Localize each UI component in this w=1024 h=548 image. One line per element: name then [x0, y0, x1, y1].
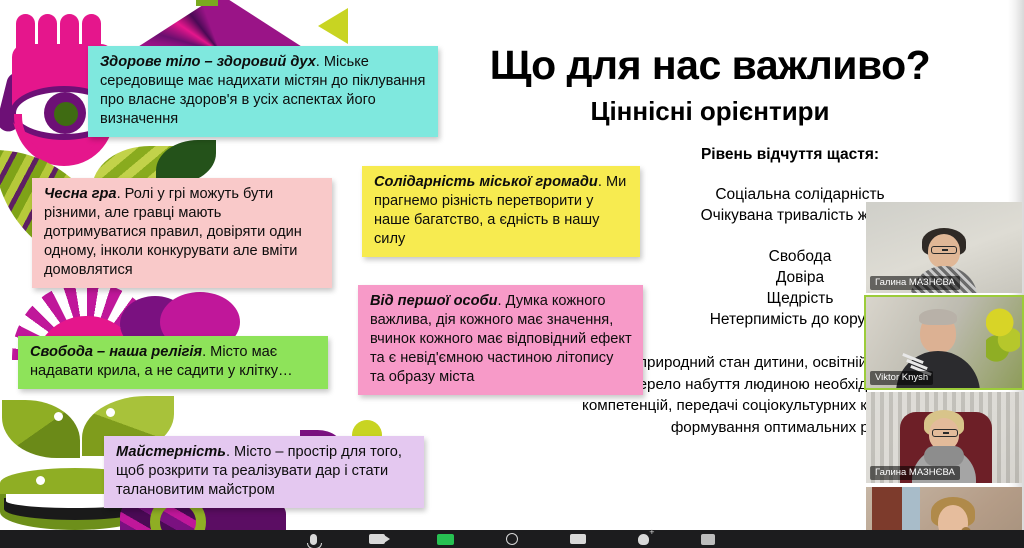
participant-name-label: Галина МАЗНЄВА: [870, 276, 960, 290]
plant-decor: [986, 305, 1020, 363]
toolbar-share-screen-button[interactable]: [437, 534, 454, 545]
value-card-first-person: Від першої особи. Думка кожного важлива,…: [358, 285, 643, 395]
reactions-icon: [506, 533, 518, 545]
value-card-mastery: Майстерність. Місто – простір для того, …: [104, 436, 424, 508]
mic-icon: [310, 534, 317, 545]
screen-sharing-meeting-view: Що для нас важливо? Ціннісні орієнтири Р…: [0, 0, 1024, 548]
add-participant-icon: [638, 534, 649, 545]
value-card-mastery-lead: Майстерність: [116, 444, 226, 460]
value-card-solidarity: Солідарність міської громади. Ми прагнем…: [362, 166, 640, 257]
value-card-solidarity-lead: Солідарність міської громади: [374, 174, 598, 190]
happiness-level-label: Рівень відчуття щастя:: [600, 146, 980, 164]
meeting-toolbar[interactable]: [0, 530, 1024, 548]
participant-name-text: Viktor Knysh: [875, 372, 928, 383]
camera-icon: [369, 534, 385, 544]
toolbar-camera-button[interactable]: [369, 534, 385, 544]
value-card-health-lead: Здорове тіло – здоровий дух: [100, 54, 316, 70]
participant-name-text: Галина МАЗНЄВА: [875, 277, 955, 288]
toolbar-microphone-button[interactable]: [310, 534, 317, 545]
value-card-fair-play: Чесна гра. Ролі у грі можуть бути різним…: [32, 178, 332, 288]
toolbar-more-options-button[interactable]: [701, 534, 715, 545]
more-options-icon: [701, 534, 715, 545]
yellow-chevron-icon: [318, 8, 348, 44]
green-square-accent: [196, 0, 218, 6]
toolbar-reactions-button[interactable]: [506, 533, 518, 545]
olive-leaf-left: [2, 400, 80, 458]
participant-video-strip[interactable]: Галина МАЗНЄВА Viktor Knysh: [864, 200, 1024, 548]
participant-name-label: Галина МАЗНЄВА: [870, 466, 960, 480]
slide-title: Що для нас важливо?: [460, 42, 960, 89]
purple-fan-shape: [130, 0, 310, 52]
value-card-freedom-lead: Свобода – наша релігія: [30, 344, 202, 360]
value-card-freedom: Свобода – наша релігія. Місто має надава…: [18, 336, 328, 389]
video-tile-viktor-knysh[interactable]: Viktor Knysh: [864, 295, 1024, 390]
participants-icon: [570, 534, 586, 544]
value-card-first-person-lead: Від першої особи: [370, 293, 498, 309]
value-card-fair-play-lead: Чесна гра: [44, 186, 117, 202]
slide-subtitle: Ціннісні орієнтири: [460, 96, 960, 127]
share-screen-icon: [437, 534, 454, 545]
video-tile-galyna-mazneva-2[interactable]: Галина МАЗНЄВА: [864, 390, 1024, 485]
participant-name-text: Галина МАЗНЄВА: [875, 467, 955, 478]
video-tile-galyna-mazneva-1[interactable]: Галина МАЗНЄВА: [864, 200, 1024, 295]
value-card-health: Здорове тіло – здоровий дух. Міське сере…: [88, 46, 438, 137]
toolbar-add-participant-button[interactable]: [638, 534, 649, 545]
participant-name-label: Viktor Knysh: [870, 371, 933, 385]
toolbar-participants-button[interactable]: [570, 534, 586, 544]
